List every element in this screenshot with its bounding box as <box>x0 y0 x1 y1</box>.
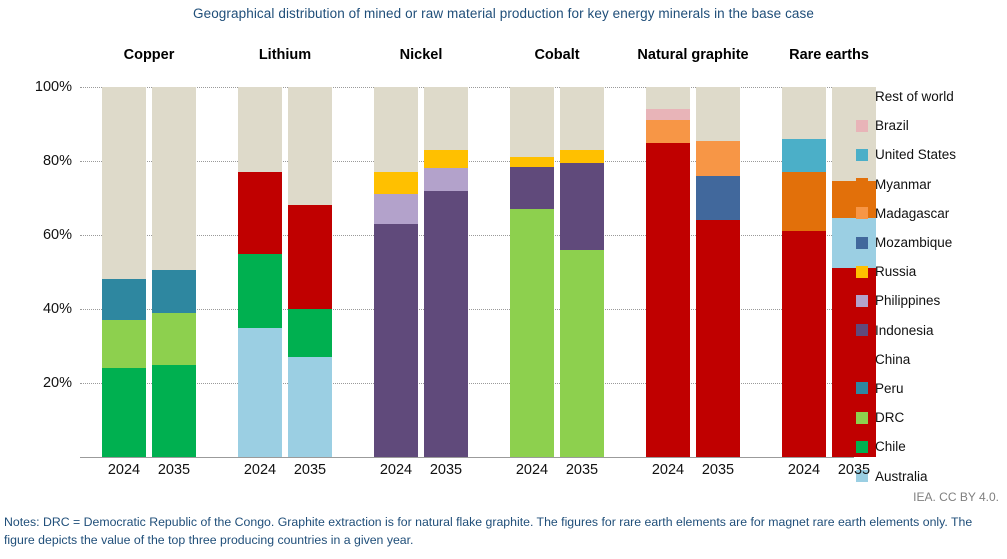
x-axis-tick-label: 2035 <box>838 462 870 478</box>
x-axis-tick-label: 2024 <box>108 462 140 478</box>
bar-rare-earths-2024[interactable] <box>782 87 826 457</box>
bar-segment-rest-of-world[interactable] <box>152 87 196 270</box>
bar-segment-russia[interactable] <box>424 150 468 169</box>
bar-cobalt-2024[interactable] <box>510 87 554 457</box>
legend-swatch-icon <box>856 237 868 249</box>
bar-segment-rest-of-world[interactable] <box>374 87 418 172</box>
bar-segment-chile[interactable] <box>152 365 196 458</box>
x-axis-tick-label: 2024 <box>788 462 820 478</box>
legend-swatch-icon <box>856 91 868 103</box>
legend-label: Rest of world <box>875 89 954 104</box>
bar-segment-russia[interactable] <box>510 157 554 166</box>
legend-label: Myanmar <box>875 177 931 192</box>
x-axis-tick-label: 2035 <box>702 462 734 478</box>
bar-segment-chile[interactable] <box>102 368 146 457</box>
bar-segment-indonesia[interactable] <box>424 191 468 457</box>
x-axis-tick-label: 2035 <box>566 462 598 478</box>
legend-item-philippines[interactable]: Philippines <box>856 286 1006 315</box>
bar-segment-rest-of-world[interactable] <box>288 87 332 205</box>
x-axis-tick-label: 2035 <box>158 462 190 478</box>
legend-item-drc[interactable]: DRC <box>856 403 1006 432</box>
bar-segment-peru[interactable] <box>152 270 196 313</box>
group-header-natural-graphite: Natural graphite <box>637 47 748 63</box>
x-axis-tick-label: 2024 <box>516 462 548 478</box>
legend-label: Russia <box>875 264 916 279</box>
legend-label: Indonesia <box>875 323 934 338</box>
bar-segment-brazil[interactable] <box>646 109 690 120</box>
legend-label: DRC <box>875 410 904 425</box>
legend-item-australia[interactable]: Australia <box>856 461 1006 490</box>
legend-label: Chile <box>875 439 906 454</box>
legend-item-united-states[interactable]: United States <box>856 140 1006 169</box>
legend-swatch-icon <box>856 266 868 278</box>
bar-segment-rest-of-world[interactable] <box>646 87 690 109</box>
bar-segment-madagascar[interactable] <box>646 120 690 142</box>
bar-segment-australia[interactable] <box>238 328 282 458</box>
legend-label: Peru <box>875 381 904 396</box>
bar-segment-indonesia[interactable] <box>510 167 554 210</box>
plot-area <box>80 87 850 457</box>
y-axis-tick-label: 40% <box>12 301 72 317</box>
legend-label: Philippines <box>875 293 940 308</box>
legend-item-madagascar[interactable]: Madagascar <box>856 199 1006 228</box>
x-axis-line <box>80 457 854 458</box>
legend-swatch-icon <box>856 207 868 219</box>
legend-label: Mozambique <box>875 235 952 250</box>
bar-segment-drc[interactable] <box>102 320 146 368</box>
bar-segment-chile[interactable] <box>238 254 282 328</box>
legend-item-peru[interactable]: Peru <box>856 374 1006 403</box>
legend-swatch-icon <box>856 412 868 424</box>
x-axis-tick-label: 2024 <box>652 462 684 478</box>
notes-text: Notes: DRC = Democratic Republic of the … <box>4 514 999 550</box>
bar-segment-china[interactable] <box>696 220 740 457</box>
credit-text: IEA. CC BY 4.0. <box>913 490 999 504</box>
y-axis-tick-label: 80% <box>12 153 72 169</box>
legend-item-indonesia[interactable]: Indonesia <box>856 316 1006 345</box>
x-axis-tick-label: 2035 <box>294 462 326 478</box>
bar-segment-indonesia[interactable] <box>374 224 418 457</box>
y-axis-tick-label: 100% <box>12 79 72 95</box>
bar-segment-rest-of-world[interactable] <box>696 87 740 141</box>
bar-lithium-2035[interactable] <box>288 87 332 457</box>
legend-label: Brazil <box>875 118 909 133</box>
group-header-lithium: Lithium <box>259 47 311 63</box>
page-title: Geographical distribution of mined or ra… <box>0 6 1007 21</box>
legend: Rest of worldBrazilUnited StatesMyanmarM… <box>856 82 1006 491</box>
bar-segment-rest-of-world[interactable] <box>560 87 604 150</box>
legend-item-myanmar[interactable]: Myanmar <box>856 170 1006 199</box>
legend-swatch-icon <box>856 120 868 132</box>
bar-segment-china[interactable] <box>646 143 690 458</box>
bar-natural-graphite-2024[interactable] <box>646 87 690 457</box>
bar-segment-madagascar[interactable] <box>696 141 740 176</box>
group-header-cobalt: Cobalt <box>534 47 579 63</box>
bar-segment-drc[interactable] <box>152 313 196 365</box>
group-header-copper: Copper <box>124 47 175 63</box>
bar-nickel-2035[interactable] <box>424 87 468 457</box>
bar-natural-graphite-2035[interactable] <box>696 87 740 457</box>
bar-segment-russia[interactable] <box>374 172 418 194</box>
bar-segment-rest-of-world[interactable] <box>238 87 282 172</box>
bar-segment-rest-of-world[interactable] <box>102 87 146 279</box>
legend-item-mozambique[interactable]: Mozambique <box>856 228 1006 257</box>
legend-swatch-icon <box>856 149 868 161</box>
x-axis-tick-label: 2024 <box>244 462 276 478</box>
legend-swatch-icon <box>856 441 868 453</box>
bar-segment-drc[interactable] <box>560 250 604 457</box>
legend-swatch-icon <box>856 382 868 394</box>
x-axis-tick-label: 2024 <box>380 462 412 478</box>
bar-segment-china[interactable] <box>782 231 826 457</box>
bar-segment-russia[interactable] <box>560 150 604 163</box>
bar-segment-rest-of-world[interactable] <box>510 87 554 157</box>
legend-item-china[interactable]: China <box>856 345 1006 374</box>
bar-copper-2035[interactable] <box>152 87 196 457</box>
group-header-nickel: Nickel <box>400 47 443 63</box>
bar-segment-philippines[interactable] <box>424 168 468 190</box>
x-axis-tick-label: 2035 <box>430 462 462 478</box>
y-axis-labels: 20%40%60%80%100% <box>8 87 72 457</box>
legend-swatch-icon <box>856 295 868 307</box>
legend-swatch-icon <box>856 324 868 336</box>
bar-segment-chile[interactable] <box>288 309 332 357</box>
bar-segment-indonesia[interactable] <box>560 163 604 250</box>
bar-segment-myanmar[interactable] <box>782 172 826 231</box>
bar-segment-china[interactable] <box>238 172 282 253</box>
group-header-rare-earths: Rare earths <box>789 47 869 63</box>
y-axis-tick-label: 60% <box>12 227 72 243</box>
legend-item-brazil[interactable]: Brazil <box>856 111 1006 140</box>
legend-swatch-icon <box>856 178 868 190</box>
bar-segment-philippines[interactable] <box>374 194 418 224</box>
bar-segment-mozambique[interactable] <box>696 176 740 220</box>
legend-label: China <box>875 352 910 367</box>
legend-item-rest-of-world[interactable]: Rest of world <box>856 82 1006 111</box>
bar-segment-peru[interactable] <box>102 279 146 320</box>
y-axis-tick-label: 20% <box>12 375 72 391</box>
bar-nickel-2024[interactable] <box>374 87 418 457</box>
legend-item-russia[interactable]: Russia <box>856 257 1006 286</box>
legend-label: Australia <box>875 469 928 484</box>
bar-segment-rest-of-world[interactable] <box>782 87 826 139</box>
legend-item-chile[interactable]: Chile <box>856 432 1006 461</box>
bar-lithium-2024[interactable] <box>238 87 282 457</box>
bar-copper-2024[interactable] <box>102 87 146 457</box>
bar-segment-united-states[interactable] <box>782 139 826 172</box>
legend-label: United States <box>875 147 956 162</box>
bar-segment-australia[interactable] <box>288 357 332 457</box>
bar-cobalt-2035[interactable] <box>560 87 604 457</box>
bar-segment-drc[interactable] <box>510 209 554 457</box>
legend-swatch-icon <box>856 353 868 365</box>
bar-segment-rest-of-world[interactable] <box>424 87 468 150</box>
bar-segment-china[interactable] <box>288 205 332 309</box>
legend-label: Madagascar <box>875 206 949 221</box>
